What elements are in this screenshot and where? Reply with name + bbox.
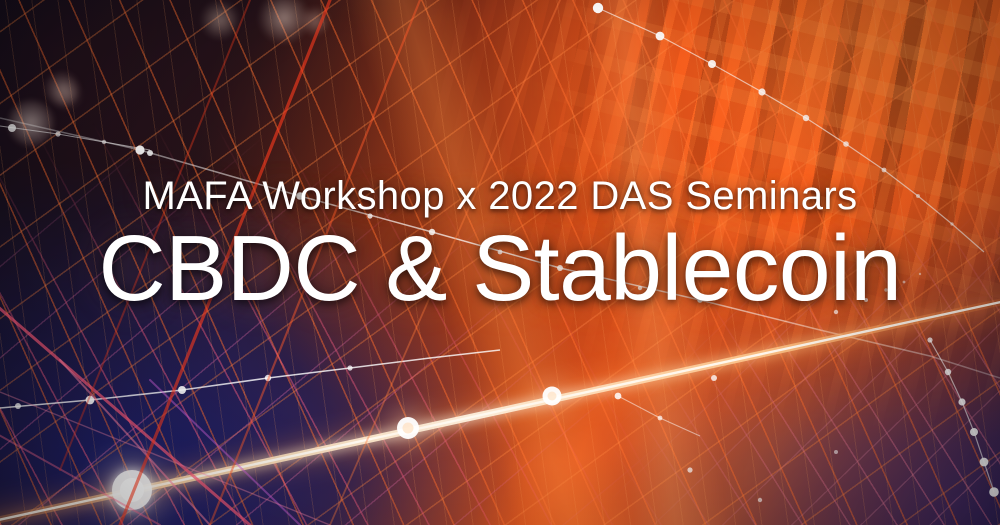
event-banner: MAFA Workshop x 2022 DAS Seminars CBDC &… [0,0,1000,525]
bokeh-circle [300,6,330,36]
banner-subtitle: MAFA Workshop x 2022 DAS Seminars [0,176,1000,216]
banner-headline: CBDC & Stablecoin [0,222,1000,315]
bokeh-circle [200,0,240,40]
bokeh-circle [258,0,310,44]
bokeh-circle [52,80,82,110]
bokeh-circle [8,100,54,146]
bokeh-circle [45,72,79,106]
banner-text-block: MAFA Workshop x 2022 DAS Seminars CBDC &… [0,176,1000,315]
